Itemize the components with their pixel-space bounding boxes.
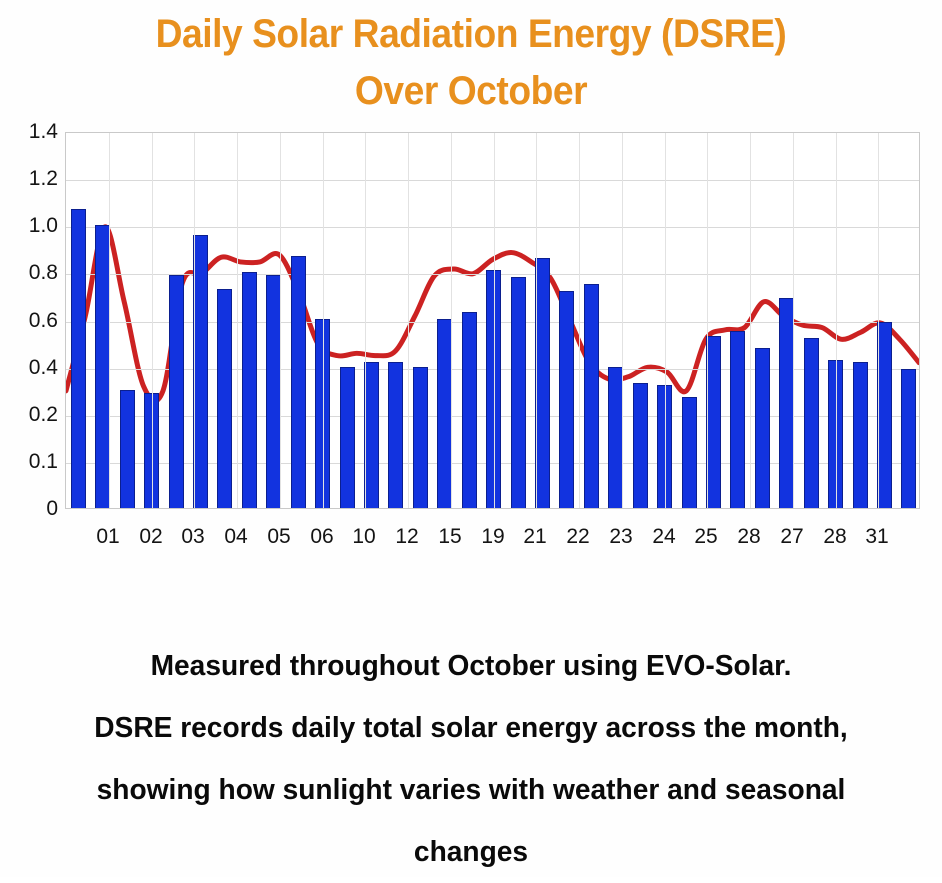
bar <box>120 390 135 508</box>
x-axis-tick-label: 23 <box>609 526 632 547</box>
x-axis-tick-label: 21 <box>523 526 546 547</box>
y-axis-tick-label: 1.2 <box>0 168 58 189</box>
bar <box>169 275 184 508</box>
x-axis-tick-label: 03 <box>181 526 204 547</box>
bar <box>559 291 574 508</box>
x-axis: 01020304050610121519212223242528272831 <box>65 518 920 558</box>
bar <box>877 322 892 508</box>
bar <box>535 258 550 508</box>
x-axis-tick-label: 19 <box>481 526 504 547</box>
x-gridline <box>579 133 580 508</box>
bar <box>706 336 721 508</box>
y-axis-tick-label: 0.2 <box>0 404 58 425</box>
bar <box>608 367 623 508</box>
x-axis-tick-label: 24 <box>652 526 675 547</box>
x-gridline <box>750 133 751 508</box>
bar <box>901 369 916 508</box>
bar <box>388 362 403 508</box>
bar <box>511 277 526 508</box>
x-gridline <box>494 133 495 508</box>
y-axis-tick-label: 0 <box>0 498 58 519</box>
y-axis: 1.41.21.00.80.60.40.20.10 <box>0 132 58 509</box>
y-axis-tick-label: 0.1 <box>0 451 58 472</box>
x-gridline <box>280 133 281 508</box>
bar <box>633 383 648 508</box>
caption-line-4: changes <box>14 821 928 883</box>
x-axis-tick-label: 04 <box>224 526 247 547</box>
chart-page: Daily Solar Radiation Energy (DSRE) Over… <box>0 0 942 877</box>
x-axis-tick-label: 05 <box>267 526 290 547</box>
bar <box>95 225 110 508</box>
x-axis-tick-label: 28 <box>737 526 760 547</box>
y-axis-tick-label: 0.6 <box>0 310 58 331</box>
x-gridline <box>793 133 794 508</box>
x-gridline <box>622 133 623 508</box>
x-axis-tick-label: 10 <box>352 526 375 547</box>
bar <box>584 284 599 508</box>
x-axis-tick-label: 02 <box>139 526 162 547</box>
bar <box>413 367 428 508</box>
x-axis-tick-label: 28 <box>823 526 846 547</box>
x-gridline <box>707 133 708 508</box>
bar <box>755 348 770 508</box>
bar <box>804 338 819 508</box>
plot-frame <box>65 132 920 509</box>
bar <box>779 298 794 508</box>
x-axis-tick-label: 15 <box>438 526 461 547</box>
x-gridline <box>451 133 452 508</box>
x-axis-tick-label: 01 <box>96 526 119 547</box>
bar <box>730 331 745 508</box>
caption: Measured throughout October using EVO-So… <box>0 635 942 883</box>
title-line-2: Over October <box>53 63 890 120</box>
bar <box>682 397 697 508</box>
x-gridline <box>408 133 409 508</box>
chart-area: 1.41.21.00.80.60.40.20.10 01020304050610… <box>0 124 942 594</box>
x-gridline <box>194 133 195 508</box>
title-line-1: Daily Solar Radiation Energy (DSRE) <box>53 6 890 63</box>
page-title: Daily Solar Radiation Energy (DSRE) Over… <box>21 0 921 120</box>
caption-line-1: Measured throughout October using EVO-So… <box>14 635 928 697</box>
bar <box>364 362 379 508</box>
x-axis-tick-label: 27 <box>780 526 803 547</box>
x-axis-tick-label: 31 <box>865 526 888 547</box>
x-gridline <box>323 133 324 508</box>
x-gridline <box>536 133 537 508</box>
bar <box>853 362 868 508</box>
x-gridline <box>836 133 837 508</box>
bar <box>71 209 86 508</box>
y-axis-tick-label: 1.4 <box>0 121 58 142</box>
y-axis-tick-label: 0.4 <box>0 357 58 378</box>
bar <box>266 275 281 508</box>
y-axis-tick-label: 0.8 <box>0 262 58 283</box>
x-gridline <box>365 133 366 508</box>
x-axis-tick-label: 06 <box>310 526 333 547</box>
bar <box>437 319 452 508</box>
x-gridline <box>237 133 238 508</box>
x-axis-tick-label: 22 <box>566 526 589 547</box>
x-axis-tick-label: 25 <box>694 526 717 547</box>
x-gridline <box>878 133 879 508</box>
bar <box>217 289 232 508</box>
caption-line-3: showing how sunlight varies with weather… <box>14 759 928 821</box>
bar <box>291 256 306 508</box>
x-axis-tick-label: 12 <box>395 526 418 547</box>
bar <box>193 235 208 508</box>
y-axis-tick-label: 1.0 <box>0 215 58 236</box>
bar <box>462 312 477 508</box>
caption-line-2: DSRE records daily total solar energy ac… <box>14 697 928 759</box>
bar <box>340 367 355 508</box>
bar <box>242 272 257 508</box>
x-gridline <box>109 133 110 508</box>
x-gridline <box>665 133 666 508</box>
x-gridline <box>152 133 153 508</box>
